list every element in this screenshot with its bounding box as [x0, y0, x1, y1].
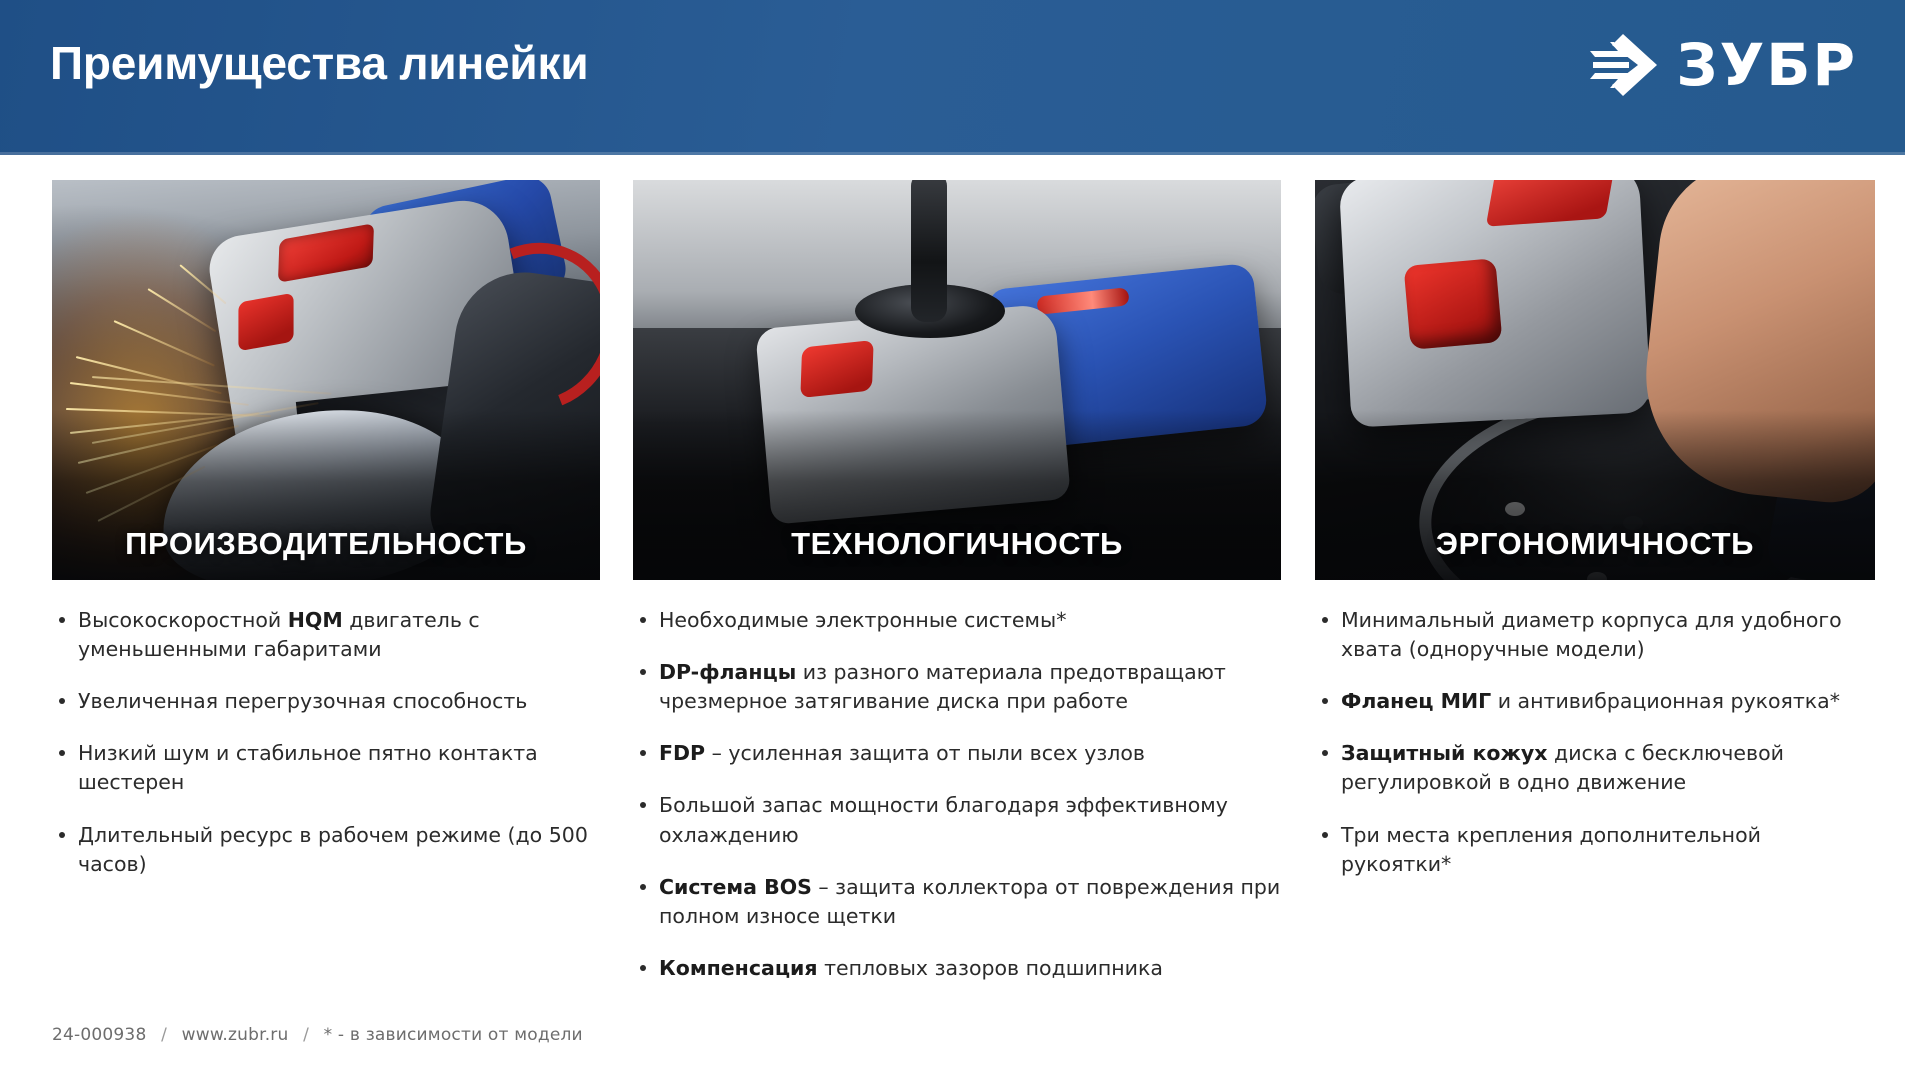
bullet-emphasis: Фланец МИГ [1341, 689, 1491, 713]
columns-container: ПРОИЗВОДИТЕЛЬНОСТЬ Высокоскоростной HQM … [0, 155, 1905, 1015]
bullet-text: Необходимые электронные системы* [659, 608, 1066, 632]
column-performance: ПРОИЗВОДИТЕЛЬНОСТЬ Высокоскоростной HQM … [52, 180, 600, 879]
footer-code: 24-000938 [52, 1025, 146, 1045]
bullet-item: FDP – усиленная защита от пыли всех узло… [633, 739, 1281, 768]
footer-site-link[interactable]: www.zubr.ru [182, 1025, 289, 1045]
brand-name: ЗУБР [1676, 36, 1857, 94]
card-technology: ТЕХНОЛОГИЧНОСТЬ [633, 180, 1281, 580]
bullets-performance: Высокоскоростной HQM двигатель с уменьше… [52, 606, 600, 879]
bullet-item: Высокоскоростной HQM двигатель с уменьше… [52, 606, 600, 664]
bullet-item: DP-фланцы из разного материала предотвра… [633, 658, 1281, 716]
bullet-text: и антивибрационная рукоятка* [1491, 689, 1840, 713]
bullet-item: Фланец МИГ и антивибрационная рукоятка* [1315, 687, 1875, 716]
footer-note: * - в зависимости от модели [324, 1025, 583, 1045]
bullet-text: тепловых зазоров подшипника [818, 956, 1163, 980]
page-title: Преимущества линейки [50, 36, 588, 90]
card-title-ergonomics: ЭРГОНОМИЧНОСТЬ [1315, 526, 1875, 562]
bullet-text: Увеличенная перегрузочная способность [78, 689, 527, 713]
bullet-text: Высокоскоростной [78, 608, 288, 632]
footer-separator-2: / [294, 1025, 318, 1045]
card-ergonomics: ЭРГОНОМИЧНОСТЬ [1315, 180, 1875, 580]
footer-separator-1: / [152, 1025, 176, 1045]
column-ergonomics: ЭРГОНОМИЧНОСТЬ Минимальный диаметр корпу… [1315, 180, 1875, 879]
bullet-emphasis: Компенсация [659, 956, 818, 980]
bullet-text: – усиленная защита от пыли всех узлов [705, 741, 1145, 765]
bullet-text: Минимальный диаметр корпуса для удобного… [1341, 608, 1842, 661]
bullet-emphasis: FDP [659, 741, 705, 765]
bullet-item: Большой запас мощности благодаря эффекти… [633, 791, 1281, 849]
bullet-text: Три места крепления дополнительной рукоя… [1341, 823, 1761, 876]
bullet-text: Низкий шум и стабильное пятно контакта ш… [78, 741, 538, 794]
zubr-diamond-logo-icon [1586, 32, 1660, 98]
bullet-text: Большой запас мощности благодаря эффекти… [659, 793, 1228, 846]
column-technology: ТЕХНОЛОГИЧНОСТЬ Необходимые электронные … [633, 180, 1281, 983]
card-title-performance: ПРОИЗВОДИТЕЛЬНОСТЬ [52, 526, 600, 562]
bullet-item: Защитный кожух диска с бесключевой регул… [1315, 739, 1875, 797]
card-title-technology: ТЕХНОЛОГИЧНОСТЬ [633, 526, 1281, 562]
bullet-text: Длительный ресурс в рабочем режиме (до 5… [78, 823, 588, 876]
bullet-emphasis: HQM [288, 608, 343, 632]
bullets-ergonomics: Минимальный диаметр корпуса для удобного… [1315, 606, 1875, 879]
bullet-item: Длительный ресурс в рабочем режиме (до 5… [52, 821, 600, 879]
slide-root: Преимущества линейки ЗУБР [0, 0, 1905, 1071]
page-header: Преимущества линейки ЗУБР [0, 0, 1905, 155]
bullets-technology: Необходимые электронные системы*DP-фланц… [633, 606, 1281, 983]
brand-logo: ЗУБР [1586, 32, 1857, 98]
bullet-item: Система BOS – защита коллектора от повре… [633, 873, 1281, 931]
bullet-emphasis: Защитный кожух [1341, 741, 1548, 765]
bullet-item: Увеличенная перегрузочная способность [52, 687, 600, 716]
footer: 24-000938 / www.zubr.ru / * - в зависимо… [52, 1025, 583, 1045]
bullet-emphasis: Система BOS [659, 875, 812, 899]
bullet-item: Три места крепления дополнительной рукоя… [1315, 821, 1875, 879]
bullet-item: Минимальный диаметр корпуса для удобного… [1315, 606, 1875, 664]
bullet-item: Низкий шум и стабильное пятно контакта ш… [52, 739, 600, 797]
bullet-emphasis: DP-фланцы [659, 660, 796, 684]
bullet-item: Компенсация тепловых зазоров подшипника [633, 954, 1281, 983]
card-performance: ПРОИЗВОДИТЕЛЬНОСТЬ [52, 180, 600, 580]
bullet-item: Необходимые электронные системы* [633, 606, 1281, 635]
